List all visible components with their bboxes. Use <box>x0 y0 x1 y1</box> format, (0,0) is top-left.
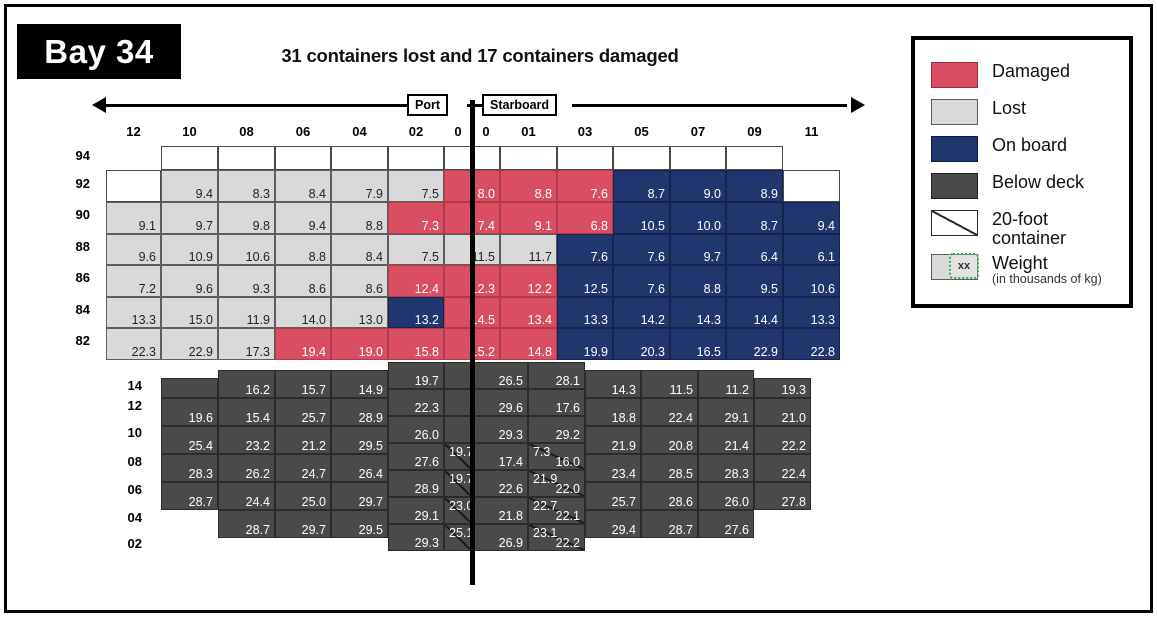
hold-centre-cell: 29.3 <box>388 524 444 551</box>
deck-row-label: 90 <box>60 207 90 222</box>
cell-weight: 22.6 <box>499 483 523 496</box>
hold-cell: 14.3 <box>585 370 641 398</box>
bay-title: Bay 34 <box>17 24 181 79</box>
deck-cell <box>444 146 472 170</box>
deck-cell <box>218 146 275 170</box>
deck-cell: 7.6 <box>613 234 670 265</box>
deck-cell: 8.8 <box>670 265 726 297</box>
arrow-right-icon <box>851 97 865 113</box>
legend-swatch-lost-icon <box>931 99 978 125</box>
hold-centre-cell: 23.122.2 <box>528 524 585 551</box>
cell-weight: 8.8 <box>309 251 326 264</box>
hold-cell: 22.4 <box>754 454 811 482</box>
cell-weight: 9.1 <box>139 220 156 233</box>
cell-weight: 15.0 <box>189 314 213 327</box>
cell-weight: 21.9 <box>612 440 636 453</box>
legend-label: On board <box>992 136 1067 155</box>
cell-weight: 9.7 <box>196 220 213 233</box>
deck-cell: 8.8 <box>331 202 388 234</box>
cell-weight: 19.7 <box>415 375 439 388</box>
cell-weight: 8.6 <box>366 283 383 296</box>
cell-weight: 23.4 <box>612 468 636 481</box>
headline-summary: 31 containers lost and 17 containers dam… <box>200 45 760 67</box>
deck-cell <box>670 146 726 170</box>
deck-cell: 12.2 <box>500 265 557 297</box>
hold-centre-cell: 28.1 <box>528 362 585 389</box>
deck-cell: 9.0 <box>670 170 726 202</box>
cell-weight: 7.6 <box>591 251 608 264</box>
cell-weight: 14.2 <box>641 314 665 327</box>
legend-item-lost: Lost <box>931 99 1026 125</box>
hold-cell: 29.7 <box>275 510 331 538</box>
cell-weight: 14.4 <box>754 314 778 327</box>
deck-column-label: 08 <box>218 124 275 139</box>
legend-item-weight: xxWeight(in thousands of kg) <box>931 254 1102 287</box>
cell-weight: 28.3 <box>189 468 213 481</box>
deck-column-label: 12 <box>106 124 161 139</box>
cell-weight: 8.7 <box>761 220 778 233</box>
hold-cell: 25.0 <box>275 482 331 510</box>
deck-cell <box>472 146 500 170</box>
hold-cell <box>161 378 218 398</box>
cell-weight: 29.1 <box>725 412 749 425</box>
deck-cell: 13.4 <box>500 297 557 328</box>
cell-weight: 15.7 <box>302 384 326 397</box>
deck-cell <box>106 170 161 202</box>
weight-marker-icon: xx <box>949 253 979 279</box>
deck-cell: 8.8 <box>500 170 557 202</box>
deck-cell: 8.4 <box>275 170 331 202</box>
cell-weight: 12.5 <box>584 283 608 296</box>
cell-weight: 9.4 <box>818 220 835 233</box>
cell-weight: 16.2 <box>246 384 270 397</box>
deck-cell: 6.1 <box>783 234 840 265</box>
deck-cell: 7.6 <box>613 265 670 297</box>
deck-cell <box>444 234 472 265</box>
deck-cell: 15.0 <box>161 297 218 328</box>
hold-cell: 21.4 <box>698 426 754 454</box>
cell-weight: 8.4 <box>309 188 326 201</box>
cell-weight: 17.6 <box>556 402 580 415</box>
deck-cell: 14.4 <box>726 297 783 328</box>
deck-cell: 8.0 <box>472 170 500 202</box>
cell-weight: 14.8 <box>528 346 552 359</box>
hold-centre-cell: 29.1 <box>388 497 444 524</box>
cell-weight: 25.7 <box>612 496 636 509</box>
hold-row-label: 12 <box>112 398 142 413</box>
deck-cell: 13.0 <box>331 297 388 328</box>
deck-cell <box>275 146 331 170</box>
cell-weight: 14.3 <box>697 314 721 327</box>
cell-weight: 6.4 <box>761 251 778 264</box>
hold-cell: 26.4 <box>331 454 388 482</box>
deck-cell: 11.9 <box>218 297 275 328</box>
deck-cell: 19.0 <box>331 328 388 360</box>
hold-cell: 28.6 <box>641 482 698 510</box>
cell-weight: 22.3 <box>415 402 439 415</box>
hold-cell: 14.9 <box>331 370 388 398</box>
hold-cell: 28.9 <box>331 398 388 426</box>
cell-weight: 10.9 <box>189 251 213 264</box>
deck-cell: 10.6 <box>218 234 275 265</box>
hold-centre-cell: 26.0 <box>388 416 444 443</box>
deck-cell <box>161 146 218 170</box>
deck-cell: 6.4 <box>726 234 783 265</box>
cell-weight: 29.5 <box>359 524 383 537</box>
deck-cell: 22.3 <box>106 328 161 360</box>
deck-cell: 10.0 <box>670 202 726 234</box>
hold-centre-cell: 22.6 <box>472 470 528 497</box>
bay-plan-figure: Bay 34 31 containers lost and 17 contain… <box>0 0 1157 617</box>
hold-cell: 24.7 <box>275 454 331 482</box>
deck-cell: 13.3 <box>557 297 613 328</box>
deck-cell: 9.7 <box>161 202 218 234</box>
hold-twenty-foot-cell: 23.0 <box>444 497 472 524</box>
hold-cell: 27.6 <box>698 510 754 538</box>
deck-cell: 13.3 <box>783 297 840 328</box>
hold-twenty-foot-cell: 19.7 <box>444 470 472 497</box>
hold-cell: 27.8 <box>754 482 811 510</box>
cell-weight: 7.5 <box>422 251 439 264</box>
cell-weight: 13.3 <box>132 314 156 327</box>
deck-cell: 12.4 <box>388 265 444 297</box>
cell-weight: 10.5 <box>641 220 665 233</box>
deck-cell: 14.0 <box>275 297 331 328</box>
deck-cell: 13.3 <box>106 297 161 328</box>
cell-weight: 13.3 <box>811 314 835 327</box>
deck-cell: 19.9 <box>557 328 613 360</box>
hold-cell: 29.7 <box>331 482 388 510</box>
cell-weight: 8.9 <box>761 188 778 201</box>
cell-weight: 25.4 <box>189 440 213 453</box>
deck-cell: 8.6 <box>331 265 388 297</box>
cell-weight: 28.7 <box>669 524 693 537</box>
cell-weight: 22.4 <box>669 412 693 425</box>
cell-weight: 19.9 <box>584 346 608 359</box>
cell-weight: 15.4 <box>246 412 270 425</box>
deck-cell: 8.6 <box>275 265 331 297</box>
deck-column-label: 0 <box>472 124 500 139</box>
cell-weight: 21.4 <box>725 440 749 453</box>
legend-item-damaged: Damaged <box>931 62 1070 88</box>
cell-weight: 22.4 <box>782 468 806 481</box>
deck-row-label: 82 <box>60 333 90 348</box>
cell-weight: 9.7 <box>704 251 721 264</box>
hold-cell: 19.6 <box>161 398 218 426</box>
deck-column-label: 07 <box>670 124 726 139</box>
cell-weight: 21.2 <box>302 440 326 453</box>
cell-weight: 9.4 <box>196 188 213 201</box>
hold-centre-cell: 26.9 <box>472 524 528 551</box>
cell-weight: 6.8 <box>591 220 608 233</box>
hold-cell: 21.2 <box>275 426 331 454</box>
legend-swatch-below-icon <box>931 173 978 199</box>
deck-cell: 8.7 <box>613 170 670 202</box>
cell-weight: 29.3 <box>415 537 439 550</box>
deck-cell: 8.4 <box>331 234 388 265</box>
deck-cell <box>388 146 444 170</box>
deck-cell: 7.9 <box>331 170 388 202</box>
axis-line-starboard <box>572 104 847 107</box>
hold-cell: 25.4 <box>161 426 218 454</box>
cell-weight: 29.5 <box>359 440 383 453</box>
deck-cell: 15.2 <box>472 328 500 360</box>
cell-weight: 8.8 <box>535 188 552 201</box>
deck-cell: 14.8 <box>500 328 557 360</box>
legend-label: Lost <box>992 99 1026 118</box>
deck-cell: 6.8 <box>557 202 613 234</box>
deck-row-label: 92 <box>60 176 90 191</box>
hold-centre-cell: 21.8 <box>472 497 528 524</box>
hold-cell: 29.5 <box>331 510 388 538</box>
deck-cell <box>500 146 557 170</box>
deck-cell <box>557 146 613 170</box>
cell-weight: 13.2 <box>415 314 439 327</box>
cell-weight: 29.1 <box>415 510 439 523</box>
hold-cell: 18.8 <box>585 398 641 426</box>
cell-weight: 7.3 <box>422 220 439 233</box>
cell-weight: 22.8 <box>811 346 835 359</box>
hold-centre-cell: 29.2 <box>528 416 585 443</box>
hold-centre-cell: 29.3 <box>472 416 528 443</box>
deck-column-label: 02 <box>388 124 444 139</box>
deck-cell <box>444 297 472 328</box>
hold-centre-cell: 29.6 <box>472 389 528 416</box>
cell-weight: 22.1 <box>556 510 580 523</box>
deck-cell: 9.7 <box>670 234 726 265</box>
deck-cell: 10.5 <box>613 202 670 234</box>
deck-cell <box>331 146 388 170</box>
hold-cell: 16.2 <box>218 370 275 398</box>
cell-weight: 19.3 <box>782 384 806 397</box>
deck-cell: 8.7 <box>726 202 783 234</box>
cell-weight: 29.7 <box>302 524 326 537</box>
deck-cell: 17.3 <box>218 328 275 360</box>
cell-weight: 14.3 <box>612 384 636 397</box>
cell-weight: 24.7 <box>302 468 326 481</box>
hold-cell: 29.4 <box>585 510 641 538</box>
legend-item-onboard: On board <box>931 136 1067 162</box>
cell-weight: 27.6 <box>415 456 439 469</box>
cell-weight: 26.2 <box>246 468 270 481</box>
hold-centre-cell: 17.4 <box>472 443 528 470</box>
hold-row-label: 14 <box>112 378 142 393</box>
cell-weight: 29.3 <box>499 429 523 442</box>
deck-column-label: 06 <box>275 124 331 139</box>
cell-weight: 7.6 <box>648 251 665 264</box>
deck-column-label: 09 <box>726 124 783 139</box>
cell-weight: 28.7 <box>189 496 213 509</box>
deck-column-label: 10 <box>161 124 218 139</box>
cell-weight: 23.2 <box>246 440 270 453</box>
deck-cell: 11.7 <box>500 234 557 265</box>
hold-cell: 29.1 <box>698 398 754 426</box>
cell-weight: 9.8 <box>253 220 270 233</box>
cell-weight: 10.0 <box>697 220 721 233</box>
cell-weight: 9.1 <box>535 220 552 233</box>
legend-swatch-onboard-icon <box>931 136 978 162</box>
cell-weight: 28.7 <box>246 524 270 537</box>
deck-row-label: 84 <box>60 302 90 317</box>
deck-cell: 9.1 <box>500 202 557 234</box>
cell-weight: 26.9 <box>499 537 523 550</box>
cell-weight: 28.9 <box>359 412 383 425</box>
cell-weight: 24.4 <box>246 496 270 509</box>
hold-twenty-foot-cell: 25.1 <box>444 524 472 551</box>
deck-cell <box>444 265 472 297</box>
cell-weight: 20.8 <box>669 440 693 453</box>
cell-weight: 11.5 <box>670 384 693 397</box>
deck-column-label: 04 <box>331 124 388 139</box>
deck-cell: 7.2 <box>106 265 161 297</box>
cell-weight: 7.6 <box>591 188 608 201</box>
cell-weight: 25.7 <box>302 412 326 425</box>
cell-weight: 28.5 <box>669 468 693 481</box>
legend-swatch-twenty-icon <box>931 210 978 236</box>
port-label: Port <box>407 94 448 116</box>
hold-cell: 11.2 <box>698 370 754 398</box>
hold-cell: 28.7 <box>641 510 698 538</box>
hold-cell: 25.7 <box>585 482 641 510</box>
legend-label: 20-foot container <box>992 210 1102 249</box>
deck-cell <box>613 146 670 170</box>
deck-cell: 9.6 <box>106 234 161 265</box>
cell-weight: 16.5 <box>697 346 721 359</box>
legend-label: Below deck <box>992 173 1084 192</box>
deck-cell: 9.1 <box>106 202 161 234</box>
cell-weight: 10.6 <box>246 251 270 264</box>
cell-weight: 22.7 <box>533 500 557 513</box>
hold-centre-cell: 22.3 <box>388 389 444 416</box>
deck-cell: 12.3 <box>472 265 500 297</box>
cell-weight: 16.0 <box>556 456 580 469</box>
deck-row-label: 86 <box>60 270 90 285</box>
hold-row-label: 04 <box>112 510 142 525</box>
hold-cell: 24.4 <box>218 482 275 510</box>
cell-weight: 22.9 <box>189 346 213 359</box>
hold-cell: 23.4 <box>585 454 641 482</box>
cell-weight: 13.3 <box>584 314 608 327</box>
cell-weight: 28.9 <box>415 483 439 496</box>
deck-cell: 10.9 <box>161 234 218 265</box>
deck-cell: 9.8 <box>218 202 275 234</box>
cell-weight: 9.6 <box>139 251 156 264</box>
cell-weight: 11.9 <box>247 314 270 327</box>
deck-cell <box>444 170 472 202</box>
hold-row-label: 10 <box>112 425 142 440</box>
cell-weight: 9.4 <box>309 220 326 233</box>
deck-cell: 20.3 <box>613 328 670 360</box>
cell-weight: 21.8 <box>499 510 523 523</box>
port-starboard-axis: Port Starboard <box>92 94 865 116</box>
hold-centre-cell: 27.6 <box>388 443 444 470</box>
cell-weight: 19.0 <box>359 346 383 359</box>
deck-cell: 14.5 <box>472 297 500 328</box>
deck-cell: 9.3 <box>218 265 275 297</box>
legend-label: Damaged <box>992 62 1070 81</box>
deck-cell: 16.5 <box>670 328 726 360</box>
hold-cell: 15.7 <box>275 370 331 398</box>
cell-weight: 26.5 <box>499 375 523 388</box>
hold-cell: 22.4 <box>641 398 698 426</box>
hold-centre-cell: 7.316.0 <box>528 443 585 470</box>
deck-cell: 14.2 <box>613 297 670 328</box>
cell-weight: 9.3 <box>253 283 270 296</box>
cell-weight: 9.0 <box>704 188 721 201</box>
deck-cell <box>444 202 472 234</box>
hold-centre-cell: 21.922.0 <box>528 470 585 497</box>
hold-cell: 25.7 <box>275 398 331 426</box>
deck-cell: 8.9 <box>726 170 783 202</box>
cell-weight: 14.9 <box>359 384 383 397</box>
cell-weight: 7.5 <box>422 188 439 201</box>
deck-cell: 9.6 <box>161 265 218 297</box>
cell-weight: 8.4 <box>366 251 383 264</box>
cell-weight: 17.4 <box>499 456 523 469</box>
cell-weight: 26.0 <box>725 496 749 509</box>
hold-twenty-foot-cell: 19.7 <box>444 443 472 470</box>
ship-centerline <box>470 100 475 585</box>
legend-label: Weight <box>992 254 1102 273</box>
cell-weight: 23.1 <box>533 527 557 540</box>
cell-weight: 27.8 <box>782 496 806 509</box>
legend-swatch-weight-icon: xx <box>931 254 978 280</box>
deck-cell: 7.5 <box>388 234 444 265</box>
deck-cell: 22.9 <box>726 328 783 360</box>
hold-centre-cell: 19.7 <box>388 362 444 389</box>
hold-cell: 21.0 <box>754 398 811 426</box>
cell-weight: 15.8 <box>415 346 439 359</box>
deck-cell: 7.3 <box>388 202 444 234</box>
cell-weight: 29.2 <box>556 429 580 442</box>
cell-weight: 19.4 <box>302 346 326 359</box>
hold-cell: 28.7 <box>218 510 275 538</box>
hold-cell: 19.3 <box>754 378 811 398</box>
hold-cell <box>444 416 472 443</box>
cell-weight: 28.1 <box>556 375 580 388</box>
hold-cell: 15.4 <box>218 398 275 426</box>
deck-column-label: 03 <box>557 124 613 139</box>
cell-weight: 22.2 <box>782 440 806 453</box>
cell-weight: 27.6 <box>725 524 749 537</box>
cell-weight: 26.4 <box>359 468 383 481</box>
deck-row-label: 88 <box>60 239 90 254</box>
cell-weight: 22.3 <box>132 346 156 359</box>
deck-cell: 9.5 <box>726 265 783 297</box>
deck-cell: 9.4 <box>275 202 331 234</box>
legend: DamagedLostOn boardBelow deck20-foot con… <box>911 36 1133 308</box>
hold-centre-cell: 17.6 <box>528 389 585 416</box>
cell-weight: 6.1 <box>818 251 835 264</box>
deck-cell <box>444 328 472 360</box>
legend-sublabel: (in thousands of kg) <box>992 273 1102 287</box>
deck-column-label: 11 <box>783 124 840 139</box>
cell-weight: 7.6 <box>648 283 665 296</box>
cell-weight: 21.9 <box>533 473 557 486</box>
cell-weight: 20.3 <box>641 346 665 359</box>
cell-weight: 9.6 <box>196 283 213 296</box>
deck-cell: 7.6 <box>557 234 613 265</box>
hold-cell <box>444 362 472 389</box>
cell-weight: 18.8 <box>612 412 636 425</box>
cell-weight: 11.2 <box>726 384 749 397</box>
cell-weight: 13.0 <box>359 314 383 327</box>
deck-row-label: 94 <box>60 148 90 163</box>
hold-cell: 29.5 <box>331 426 388 454</box>
cell-weight: 8.8 <box>704 283 721 296</box>
hold-cell: 11.5 <box>641 370 698 398</box>
deck-cell: 12.5 <box>557 265 613 297</box>
